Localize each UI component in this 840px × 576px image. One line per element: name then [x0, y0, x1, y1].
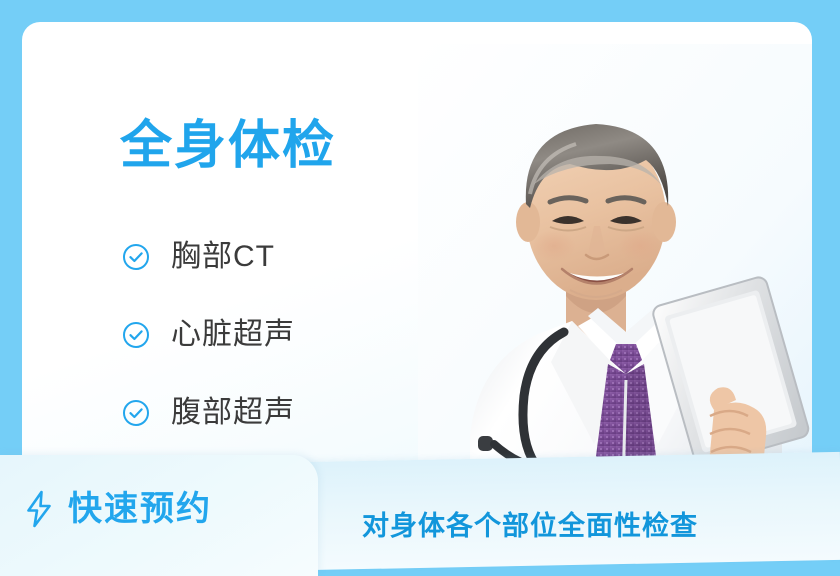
feature-item: 胸部CT: [122, 218, 442, 296]
content-card: 全身体检 胸部CT 心脏超声: [22, 22, 812, 522]
feature-item-label: 心脏超声: [171, 320, 295, 350]
check-circle-icon: [122, 243, 150, 271]
quick-book-button[interactable]: 快速预约: [24, 490, 212, 528]
feature-list: 胸部CT 心脏超声 腹部超声: [122, 218, 442, 452]
quick-book-label: 快速预约: [68, 492, 212, 526]
check-circle-icon: [122, 321, 150, 349]
footer-subtitle: 对身体各个部位全面性检查: [362, 512, 698, 542]
lightning-bolt-icon: [24, 490, 54, 528]
check-circle-icon: [122, 399, 150, 427]
feature-item: 腹部超声: [122, 374, 442, 452]
feature-item-label: 腹部超声: [171, 398, 295, 428]
feature-item-label: 胸部CT: [171, 242, 275, 272]
doctor-photo: [418, 44, 812, 522]
page-title: 全身体检: [120, 117, 336, 175]
feature-item: 心脏超声: [122, 296, 442, 374]
promo-poster: 全身体检 胸部CT 心脏超声: [0, 0, 840, 576]
